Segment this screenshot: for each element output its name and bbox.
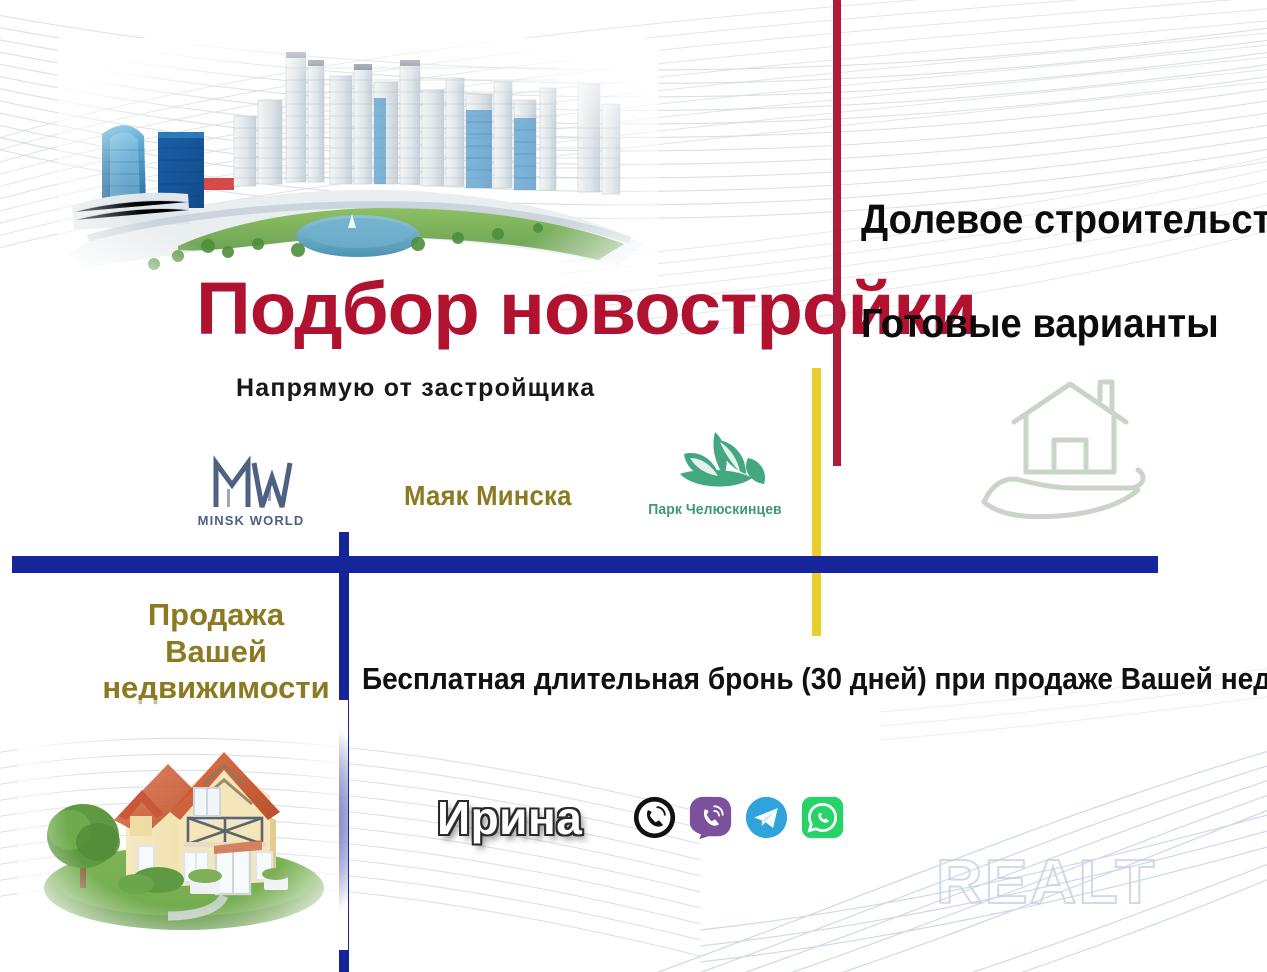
whatsapp-icon[interactable] (800, 795, 845, 840)
telegram-icon[interactable] (744, 795, 789, 840)
cottage-house-illustration (18, 700, 348, 950)
logo-minsk-world: MINSK WORLD (186, 455, 316, 547)
free-reservation-banner: Бесплатная длительная бронь (30 дней) пр… (362, 661, 1267, 697)
sale-pitch-line-1: Продажа Вашей (148, 597, 284, 669)
claim-shared-construction: Долевое строительство (861, 196, 1267, 243)
divider-yellow-vertical (812, 368, 821, 636)
city-skyline-illustration (58, 38, 658, 288)
logo-mayak-minska: Маяк Минска (404, 480, 551, 512)
realt-watermark: REALT (936, 847, 1157, 918)
minsk-world-wordmark: MINSK WORLD (186, 513, 316, 528)
minsk-world-monogram-icon (186, 455, 316, 511)
promo-poster: Подбор новостройки Напрямую от застройщи… (0, 0, 1267, 972)
leaf-icon (640, 428, 790, 500)
agent-name: Ирина (437, 791, 582, 845)
claim-ready-options: Готовые варианты (861, 300, 1219, 347)
divider-blue-horizontal (12, 556, 1158, 573)
park-wordmark: Парк Челюскинцев (645, 501, 785, 518)
house-in-hand-icon (962, 378, 1178, 520)
viber-icon[interactable] (688, 795, 733, 840)
phone-icon[interactable] (632, 795, 677, 840)
divider-crimson-vertical (833, 0, 841, 466)
page-title: Подбор новостройки (196, 272, 976, 346)
contact-channels (632, 795, 845, 840)
sale-your-property-pitch: Продажа Вашей недвижимости (100, 597, 332, 707)
page-subtitle: Напрямую от застройщика (236, 374, 595, 403)
logo-park-chelyuskintsev: Парк Челюскинцев (640, 428, 790, 518)
